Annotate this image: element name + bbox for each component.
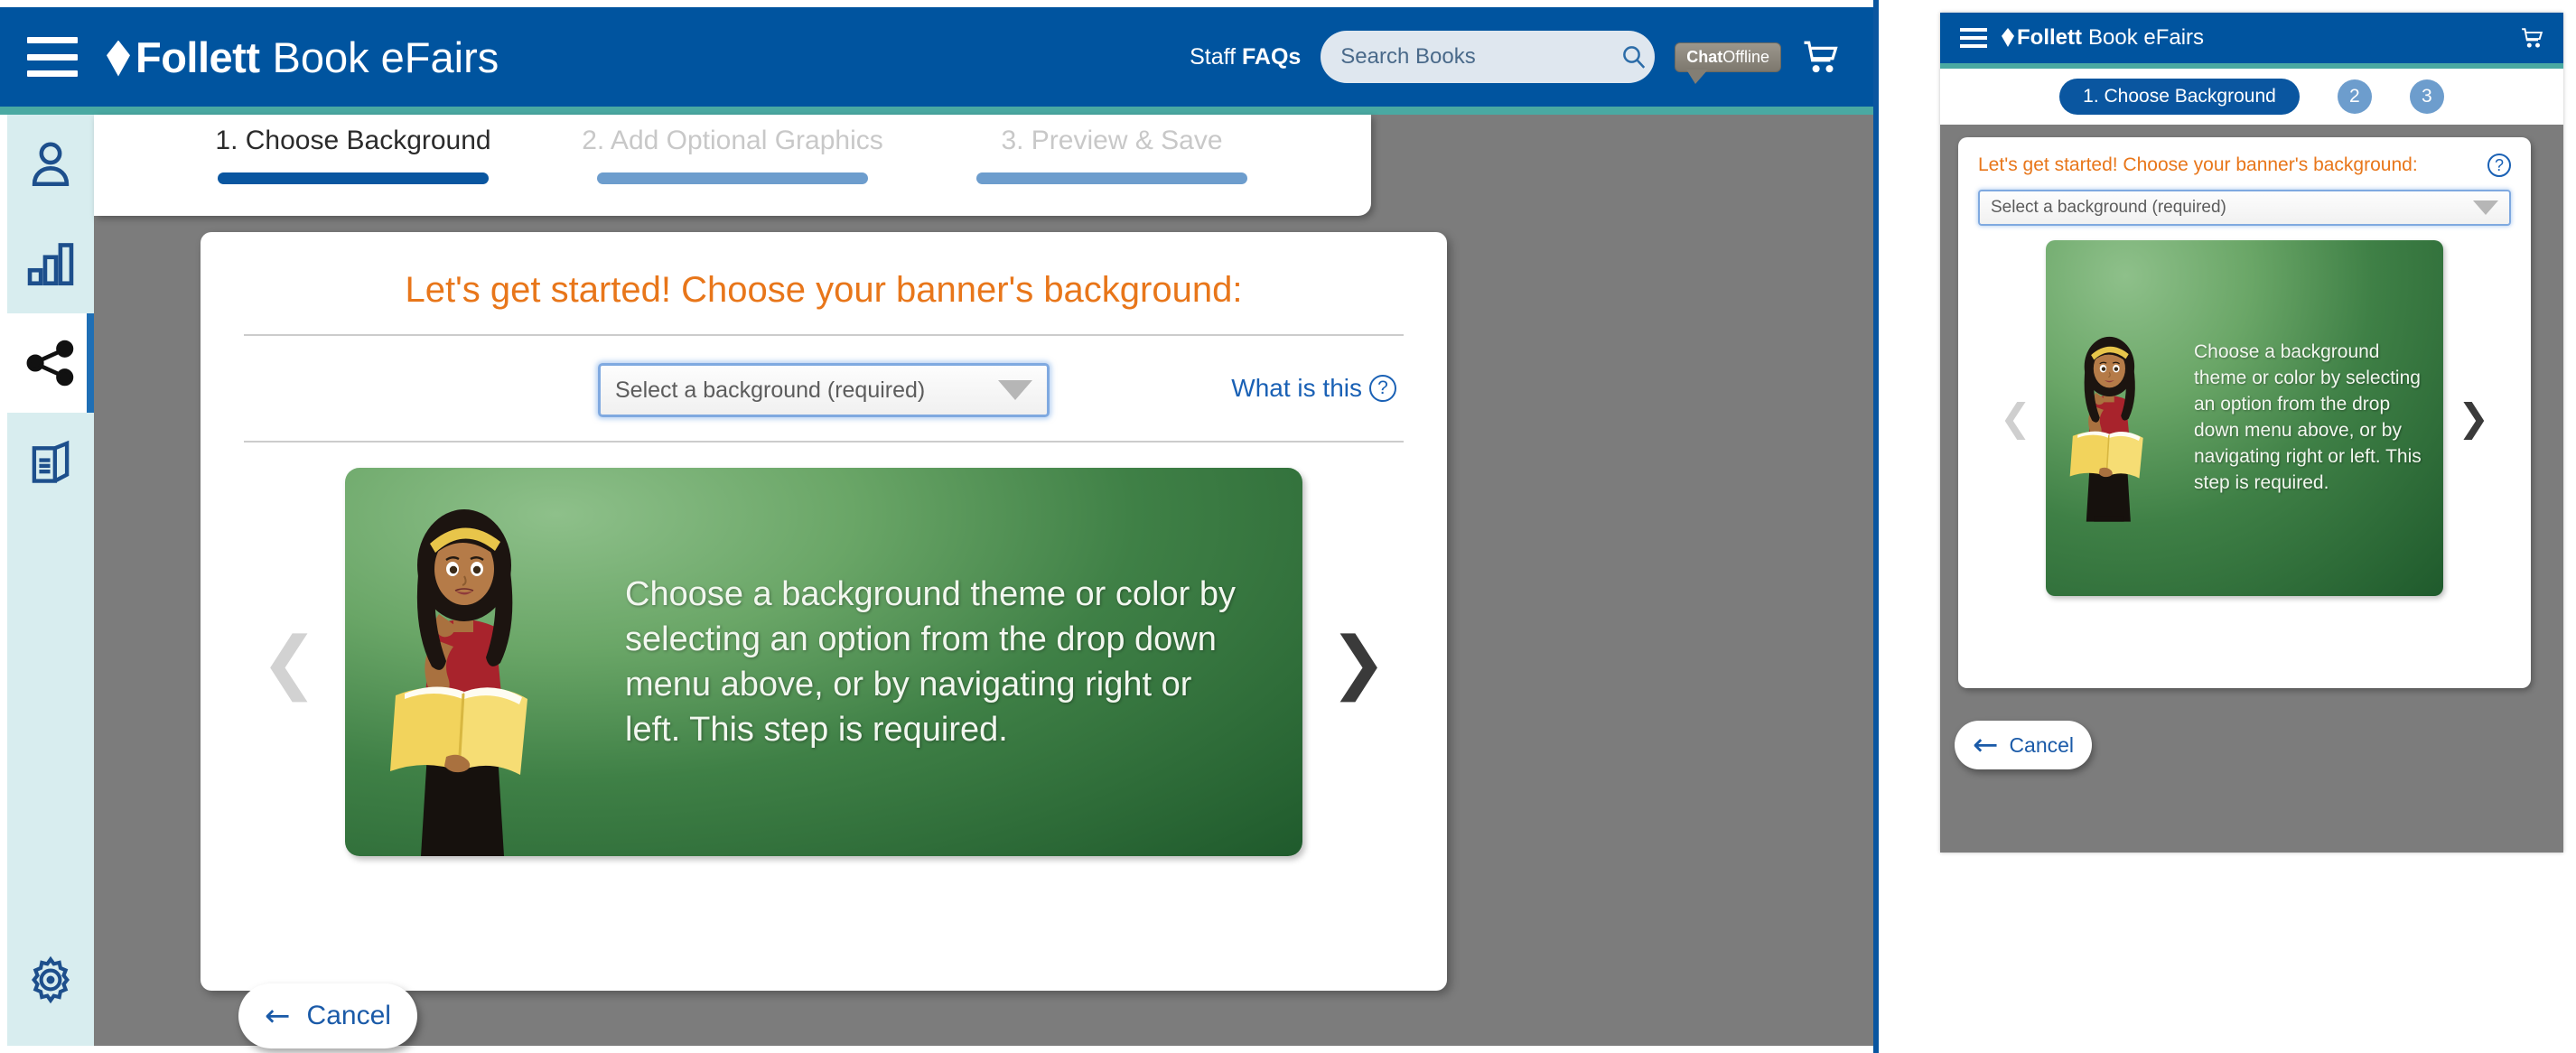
header-teal-accent: [0, 107, 1873, 115]
mobile-step-1[interactable]: 1. Choose Background: [2059, 79, 2300, 115]
hamburger-bar: [27, 54, 78, 61]
step-label: 1. Choose Background: [215, 126, 490, 156]
desktop-viewport: Follett Book eFairs Staff FAQs ChatOffli…: [0, 0, 1879, 1053]
follett-diamond-icon: [107, 41, 130, 77]
brand-logo[interactable]: Follett Book eFairs: [107, 33, 499, 82]
mobile-page-title: Let's get started! Choose your banner's …: [1978, 154, 2418, 176]
main-content-canvas: 1. Choose Background 2. Add Optional Gra…: [94, 115, 1873, 1046]
mobile-step-3[interactable]: 3: [2410, 79, 2444, 114]
mobile-background-carousel: ❮: [1978, 240, 2511, 596]
shopping-cart-icon[interactable]: [2520, 26, 2543, 50]
mobile-background-select[interactable]: Select a background (required): [1978, 190, 2511, 226]
step-progress-bar: [976, 172, 1247, 184]
chevron-down-icon: [2473, 200, 2498, 215]
chevron-right-icon[interactable]: ❯: [1330, 628, 1387, 696]
banner-text: Choose a background theme or color by se…: [616, 572, 1302, 753]
cancel-button[interactable]: ← Cancel: [238, 983, 417, 1048]
chevron-left-icon[interactable]: ❮: [260, 628, 318, 696]
mobile-banner-text: Choose a background theme or color by se…: [2190, 340, 2443, 497]
hamburger-bar: [27, 37, 78, 43]
staff-faqs-bold: FAQs: [1242, 44, 1301, 70]
search-icon[interactable]: [1620, 43, 1647, 70]
girl-with-book-illustration: [345, 468, 616, 856]
bar-chart-icon: [24, 238, 77, 290]
user-icon: [24, 138, 77, 191]
arrow-left-icon: ←: [1973, 730, 1999, 760]
app-header: Follett Book eFairs Staff FAQs ChatOffli…: [0, 7, 1873, 107]
brand-name-light: Book eFairs: [2088, 25, 2204, 51]
staff-faqs-prefix: Staff: [1190, 44, 1242, 70]
background-carousel: ❮: [244, 443, 1404, 856]
step-navigation: 1. Choose Background 2. Add Optional Gra…: [94, 115, 1371, 216]
header-actions: Staff FAQs ChatOffline: [1190, 31, 1839, 83]
step-label: 3. Preview & Save: [1001, 126, 1222, 156]
step-2-add-optional-graphics[interactable]: 2. Add Optional Graphics: [597, 126, 868, 184]
hamburger-bar: [27, 70, 78, 77]
follett-diamond-icon: [2002, 28, 2014, 47]
hamburger-bar: [1960, 36, 1987, 40]
banner-preview[interactable]: Choose a background theme or color by se…: [345, 468, 1302, 856]
what-is-this-label: What is this: [1231, 374, 1362, 403]
search-box[interactable]: [1321, 31, 1655, 83]
mobile-viewport: Follett Book eFairs 1. Choose Background…: [1940, 13, 2563, 853]
mobile-card-header: Let's get started! Choose your banner's …: [1978, 154, 2511, 177]
sidebar-item-settings[interactable]: [7, 930, 94, 1030]
book-icon: [24, 436, 77, 489]
banner-illustration: [345, 468, 616, 856]
chevron-down-icon: [998, 380, 1032, 400]
mobile-brand-logo[interactable]: Follett Book eFairs: [2002, 25, 2204, 51]
shopping-cart-icon[interactable]: [1801, 38, 1839, 76]
brand-name-light: Book eFairs: [272, 33, 499, 82]
background-select-row: Select a background (required) What is t…: [244, 336, 1404, 441]
mobile-cancel-button-label: Cancel: [2009, 733, 2074, 758]
mobile-step-2[interactable]: 2: [2338, 79, 2372, 114]
mobile-background-chooser-card: Let's get started! Choose your banner's …: [1958, 137, 2531, 688]
mobile-app-header: Follett Book eFairs: [1940, 13, 2563, 63]
hamburger-icon[interactable]: [27, 37, 78, 77]
brand-name-bold: Follett: [2017, 25, 2082, 51]
step-progress-bar: [597, 172, 868, 184]
sidebar-item-share[interactable]: [7, 313, 94, 413]
background-chooser-card: Let's get started! Choose your banner's …: [201, 232, 1447, 991]
search-input[interactable]: [1340, 44, 1620, 70]
step-progress-bar: [218, 172, 489, 184]
brand-name-bold: Follett: [135, 33, 259, 82]
chat-label: Chat: [1686, 48, 1722, 66]
chat-badge-tail: [1686, 70, 1708, 84]
chevron-right-icon[interactable]: ❯: [2458, 399, 2489, 437]
page-title: Let's get started! Choose your banner's …: [244, 254, 1404, 334]
mobile-banner-illustration: [2046, 240, 2190, 596]
step-3-preview-and-save[interactable]: 3. Preview & Save: [976, 126, 1247, 184]
chat-status: Offline: [1722, 48, 1769, 66]
gear-icon: [24, 954, 77, 1006]
share-icon: [24, 337, 77, 389]
girl-with-book-illustration: [2046, 240, 2190, 596]
chat-status-badge[interactable]: ChatOffline: [1675, 42, 1781, 72]
mobile-step-navigation: 1. Choose Background 2 3: [1940, 69, 2563, 125]
sidebar-item-account[interactable]: [7, 115, 94, 214]
sidebar-item-catalog[interactable]: [7, 413, 94, 512]
mobile-background-select-value: Select a background (required): [1991, 198, 2473, 218]
hamburger-icon[interactable]: [1960, 28, 1987, 48]
hamburger-bar: [1960, 28, 1987, 32]
hamburger-bar: [1960, 44, 1987, 48]
sidebar-item-reports[interactable]: [7, 214, 94, 313]
sidebar-rail: [7, 115, 94, 1046]
background-select-value: Select a background (required): [615, 377, 998, 404]
cancel-button-label: Cancel: [307, 1001, 391, 1031]
mobile-cancel-button[interactable]: ← Cancel: [1955, 721, 2092, 769]
step-label: 2. Add Optional Graphics: [582, 126, 883, 156]
step-1-choose-background[interactable]: 1. Choose Background: [218, 126, 489, 184]
mobile-content-canvas: Let's get started! Choose your banner's …: [1940, 125, 2563, 853]
mobile-banner-preview[interactable]: Choose a background theme or color by se…: [2046, 240, 2443, 596]
staff-faqs-link[interactable]: Staff FAQs: [1190, 44, 1301, 70]
what-is-this-link[interactable]: What is this ?: [1231, 374, 1396, 403]
background-select[interactable]: Select a background (required): [598, 363, 1050, 417]
chevron-left-icon[interactable]: ❮: [2000, 399, 2031, 437]
question-mark-icon[interactable]: ?: [2487, 154, 2511, 177]
question-mark-icon: ?: [1369, 375, 1396, 402]
arrow-left-icon: ←: [265, 1001, 291, 1031]
